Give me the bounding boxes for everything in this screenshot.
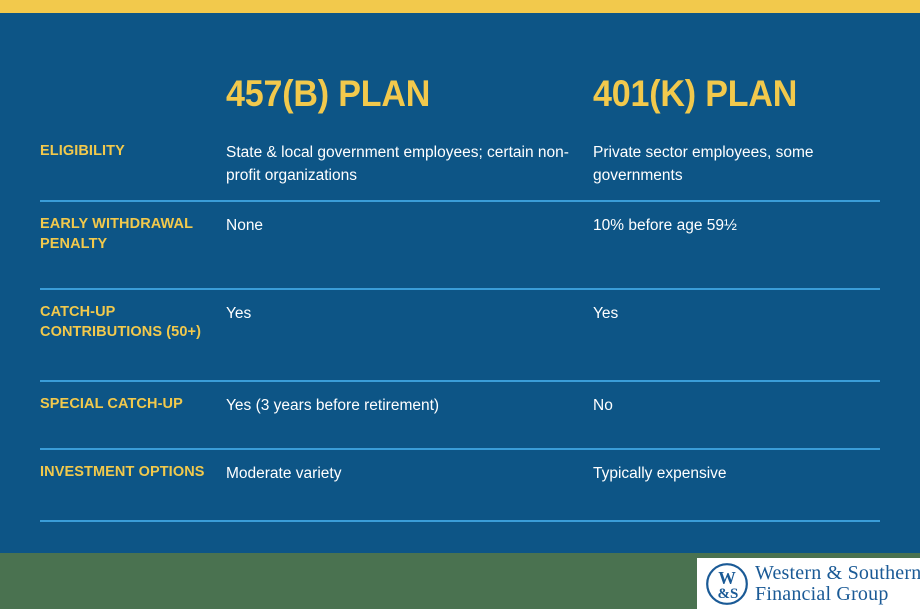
row-label: INVESTMENT OPTIONS	[40, 462, 215, 482]
comparison-infographic: 457(B) PLAN 401(K) PLAN ELIGIBILITY Stat…	[0, 0, 920, 609]
brand-logo-line2: Financial Group	[755, 584, 920, 605]
column-header-401k: 401(K) PLAN	[593, 73, 797, 115]
row-label: ELIGIBILITY	[40, 141, 215, 161]
row-value-401k: Typically expensive	[593, 462, 903, 485]
row-label: CATCH-UP CONTRIBUTIONS (50+)	[40, 302, 215, 342]
row-value-401k: No	[593, 394, 903, 417]
column-header-457b: 457(B) PLAN	[226, 73, 430, 115]
table-row: INVESTMENT OPTIONS Moderate variety Typi…	[0, 450, 920, 522]
brand-logo-line1: Western & Southern	[755, 563, 920, 584]
row-value-401k: Private sector employees, some governmen…	[593, 141, 903, 188]
svg-text:&S: &S	[717, 586, 738, 602]
row-label: SPECIAL CATCH-UP	[40, 394, 215, 414]
row-value-457b: None	[226, 214, 571, 237]
row-value-457b: Yes	[226, 302, 571, 325]
comparison-table: ELIGIBILITY State & local government emp…	[0, 129, 920, 522]
row-label: EARLY WITHDRAWAL PENALTY	[40, 214, 215, 254]
top-accent-bar	[0, 0, 920, 13]
row-value-457b: Moderate variety	[226, 462, 571, 485]
row-value-401k: Yes	[593, 302, 903, 325]
table-row: CATCH-UP CONTRIBUTIONS (50+) Yes Yes	[0, 290, 920, 382]
table-row: ELIGIBILITY State & local government emp…	[0, 129, 920, 202]
table-row: EARLY WITHDRAWAL PENALTY None 10% before…	[0, 202, 920, 290]
row-value-457b: State & local government employees; cert…	[226, 141, 571, 188]
footer-band: W &S Western & Southern Financial Group	[0, 553, 920, 609]
brand-logo: W &S Western & Southern Financial Group	[697, 558, 920, 609]
row-divider	[40, 520, 880, 522]
row-value-457b: Yes (3 years before retirement)	[226, 394, 571, 417]
table-row: SPECIAL CATCH-UP Yes (3 years before ret…	[0, 382, 920, 450]
svg-text:W: W	[718, 568, 736, 588]
ws-circle-monogram-icon: W &S	[705, 562, 749, 606]
brand-logo-text: Western & Southern Financial Group	[755, 563, 920, 605]
table-header-row: 457(B) PLAN 401(K) PLAN	[0, 13, 920, 129]
row-value-401k: 10% before age 59½	[593, 214, 903, 237]
